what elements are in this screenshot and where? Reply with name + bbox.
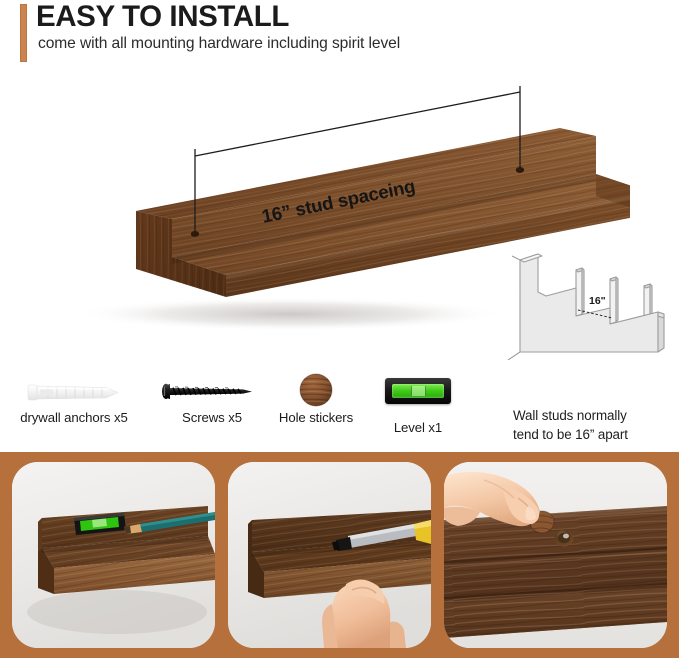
screw-icon <box>148 368 276 410</box>
header: EASY TO INSTALL come with all mounting h… <box>0 0 679 66</box>
step-photo-strip <box>0 452 679 658</box>
header-accent-bar <box>20 4 27 62</box>
wall-stud-note-line-1: Wall studs normally <box>513 407 673 426</box>
wall-stud-note-line-2: tend to be 16” apart <box>513 426 673 445</box>
level-bubble <box>411 386 426 396</box>
hardware-list: drywall anchors x5 <box>0 368 500 442</box>
step-photo-3 <box>444 462 667 648</box>
level-body <box>385 378 451 404</box>
hole-sticker-icon <box>268 368 364 410</box>
hardware-item-screws: Screws x5 <box>148 368 276 425</box>
wall-stud-diagram: 16" <box>498 248 674 360</box>
hardware-item-drywall-anchors: drywall anchors x5 <box>4 368 144 425</box>
wall-stud-note: Wall studs normally tend to be 16” apart <box>513 407 673 444</box>
hardware-label-level: Level x1 <box>366 420 470 435</box>
infographic-page: EASY TO INSTALL come with all mounting h… <box>0 0 679 658</box>
step-photo-1 <box>12 462 215 648</box>
page-title: EASY TO INSTALL <box>36 0 289 35</box>
photo-level-and-mark <box>12 462 215 648</box>
photo-apply-sticker <box>444 462 667 648</box>
stud-dimension-text: 16" <box>589 295 606 307</box>
photo-screw-in <box>228 462 431 648</box>
hardware-item-level: Level x1 <box>366 368 470 435</box>
photo-screw-hole <box>555 530 574 547</box>
wall-stud-graphic: 16" <box>498 248 674 360</box>
spirit-level-icon <box>366 378 470 420</box>
level-vial <box>392 384 444 398</box>
hardware-item-hole-stickers: Hole stickers <box>268 368 364 425</box>
hardware-label-hole-stickers: Hole stickers <box>268 410 364 425</box>
step-photo-2 <box>228 462 431 648</box>
drywall-anchor-icon <box>4 368 144 410</box>
page-subtitle: come with all mounting hardware includin… <box>38 33 400 55</box>
